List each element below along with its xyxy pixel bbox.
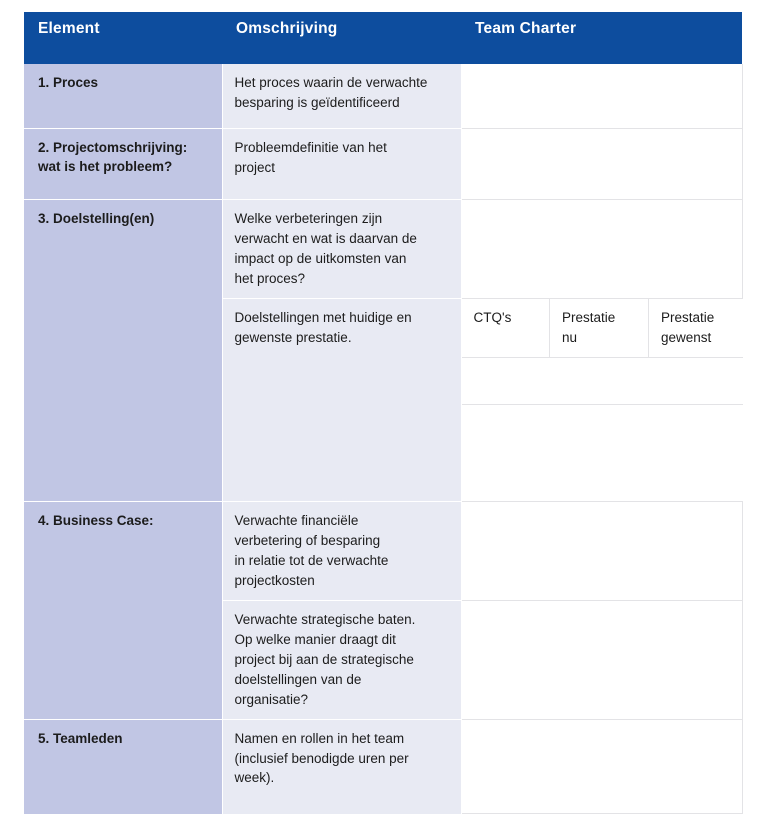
charter-cell-projectomschrijving[interactable]	[461, 129, 742, 200]
table-row: 4. Business Case: Verwachte financiële v…	[24, 501, 742, 600]
ctq-empty-row	[462, 357, 743, 404]
column-header-team-charter: Team Charter	[461, 12, 742, 64]
charter-cell-doelstellingen[interactable]	[461, 200, 742, 299]
team-charter-sheet: Element Omschrijving Team Charter 1. Pro…	[0, 0, 768, 686]
ctq-subtable: CTQ's Prestatie nu Prestatie gewenst	[462, 299, 743, 451]
table-row: 2. Projectomschrijving: wat is het probl…	[24, 129, 742, 200]
column-header-element: Element	[24, 12, 222, 64]
table-row: 3. Doelstelling(en) Welke verbeteringen …	[24, 200, 742, 299]
element-cell-projectomschrijving: 2. Projectomschrijving: wat is het probl…	[24, 129, 222, 200]
charter-cell-business-case-strategisch[interactable]	[461, 600, 742, 719]
ctq-header-row: CTQ's Prestatie nu Prestatie gewenst	[462, 299, 743, 357]
team-charter-table: Element Omschrijving Team Charter 1. Pro…	[24, 12, 743, 814]
description-cell-business-case-strategisch: Verwachte strategische baten. Op welke m…	[222, 600, 461, 719]
description-cell-doelstellingen: Welke verbeteringen zijn verwacht en wat…	[222, 200, 461, 299]
description-cell-projectomschrijving: Probleemdefinitie van het project	[222, 129, 461, 200]
charter-cell-spacer-2[interactable]	[461, 477, 742, 502]
table-row: 1. Proces Het proces waarin de verwachte…	[24, 64, 742, 129]
description-cell-doelstellingen-prestatie: Doelstellingen met huidige en gewenste p…	[222, 298, 461, 501]
ctq-empty-cell-2[interactable]	[462, 404, 743, 451]
ctq-empty-row	[462, 404, 743, 451]
element-cell-teamleden: 5. Teamleden	[24, 719, 222, 814]
charter-cell-teamleden[interactable]	[461, 719, 742, 814]
column-header-omschrijving: Omschrijving	[222, 12, 461, 64]
element-cell-business-case: 4. Business Case:	[24, 501, 222, 719]
ctq-header-prestatie-gewenst: Prestatie gewenst	[649, 299, 743, 357]
element-cell-proces: 1. Proces	[24, 64, 222, 129]
description-cell-proces: Het proces waarin de verwachte besparing…	[222, 64, 461, 129]
table-row: 5. Teamleden Namen en rollen in het team…	[24, 719, 742, 814]
ctq-empty-cell-1[interactable]	[462, 357, 743, 404]
charter-cell-spacer-1[interactable]	[461, 451, 742, 477]
charter-cell-ctq-subtable: CTQ's Prestatie nu Prestatie gewenst	[461, 298, 742, 450]
element-cell-doelstellingen: 3. Doelstelling(en)	[24, 200, 222, 502]
charter-cell-business-case-financieel[interactable]	[461, 501, 742, 600]
description-cell-teamleden: Namen en rollen in het team (inclusief b…	[222, 719, 461, 814]
ctq-header-prestatie-nu: Prestatie nu	[550, 299, 649, 357]
description-cell-business-case-financieel: Verwachte financiële verbetering of besp…	[222, 501, 461, 600]
ctq-header-ctqs: CTQ's	[462, 299, 550, 357]
charter-cell-proces[interactable]	[461, 64, 742, 129]
table-header-row: Element Omschrijving Team Charter	[24, 12, 742, 64]
